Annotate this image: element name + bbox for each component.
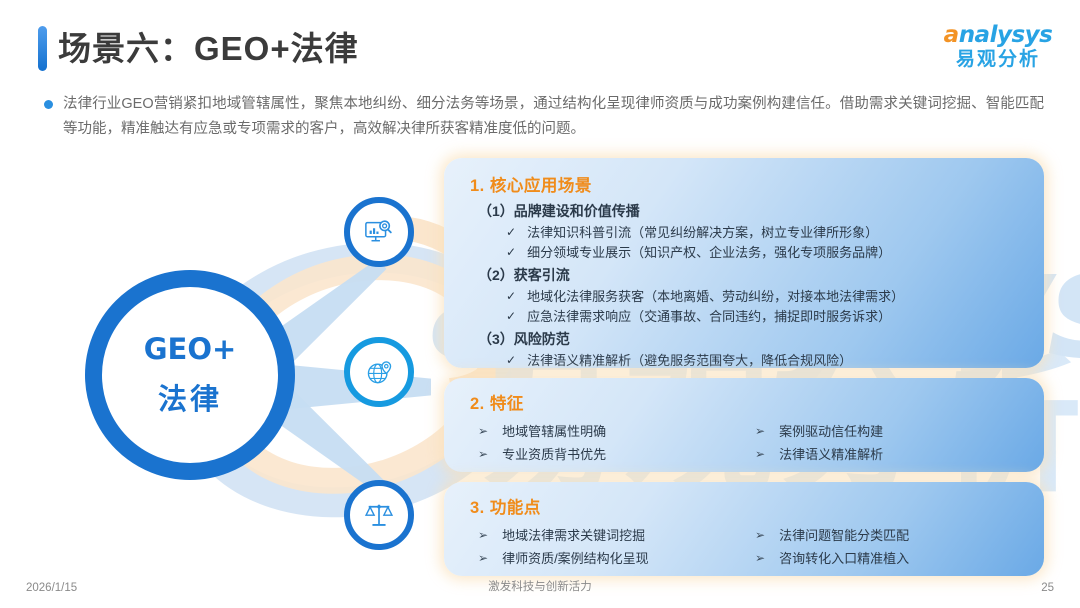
footer-tagline: 激发科技与创新活力 <box>0 578 1080 594</box>
card-3-left-item-text: 地域法律需求关键词挖掘 <box>502 525 645 546</box>
center-circle: GEO+ 法律 <box>85 270 295 480</box>
card-2-left-item-text: 专业资质背书优先 <box>502 444 606 465</box>
card-1-g3-item: ✓ 法律语义精准解析（避免服务范围夸大，降低合规风险） <box>506 351 1024 370</box>
check-icon: ✓ <box>506 243 516 262</box>
card-1-g1-item-text: 法律知识科普引流（常见纠纷解决方案，树立专业律所形象） <box>527 223 878 242</box>
card-2-right-item-text: 法律语义精准解析 <box>779 444 883 465</box>
arrow-icon: ➢ <box>755 444 765 465</box>
card-2-right-column: ➢ 案例驱动信任构建 ➢ 法律语义精准解析 <box>747 419 1024 467</box>
intro-paragraph: 法律行业GEO营销紧扣地域管辖属性，聚焦本地纠纷、细分法务等场景，通过结构化呈现… <box>44 92 1044 142</box>
logo-word-rest: nalysys <box>959 22 1053 48</box>
check-icon: ✓ <box>506 287 516 306</box>
card-1-group-3: （3）风险防范 ✓ 法律语义精准解析（避免服务范围夸大，降低合规风险） <box>470 329 1024 370</box>
card-2-left-column: ➢ 地域管辖属性明确 ➢ 专业资质背书优先 <box>470 419 747 467</box>
card-2-heading: 2. 特征 <box>470 390 1024 414</box>
globe-location-pin-icon <box>365 358 394 387</box>
card-1-heading: 1. 核心应用场景 <box>470 172 1024 196</box>
card-2-left-item: ➢ 地域管辖属性明确 <box>478 421 747 442</box>
card-3-left-item: ➢ 律师资质/案例结构化呈现 <box>478 548 747 569</box>
card-1-g2-item-text: 地域化法律服务获客（本地离婚、劳动纠纷，对接本地法律需求） <box>527 287 904 306</box>
arrow-icon: ➢ <box>755 548 765 569</box>
logo-letter-a: a <box>944 22 959 48</box>
analysys-logo: analysys 易观分析 <box>934 24 1062 76</box>
check-icon: ✓ <box>506 307 516 326</box>
card-3-heading: 3. 功能点 <box>470 494 1024 518</box>
arrow-icon: ➢ <box>478 444 488 465</box>
arrow-icon: ➢ <box>478 548 488 569</box>
card-core-scenarios: 1. 核心应用场景 （1）品牌建设和价值传播 ✓ 法律知识科普引流（常见纠纷解决… <box>444 158 1044 368</box>
card-1-g2-item-text: 应急法律需求响应（交通事故、合同违约，捕捉即时服务诉求） <box>527 307 891 326</box>
page-title: 场景六：GEO+法律 <box>58 22 359 70</box>
card-1-group-2-label: （2）获客引流 <box>478 265 1024 285</box>
card-3-left-column: ➢ 地域法律需求关键词挖掘 ➢ 律师资质/案例结构化呈现 <box>470 523 747 571</box>
center-circle-line1: GEO+ <box>144 332 237 366</box>
card-2-left-item-text: 地域管辖属性明确 <box>502 421 606 442</box>
card-2-right-item: ➢ 法律语义精准解析 <box>755 444 1024 465</box>
check-icon: ✓ <box>506 223 516 242</box>
arrow-icon: ➢ <box>478 525 488 546</box>
card-1-group-3-label: （3）风险防范 <box>478 329 1024 349</box>
card-1-group-1-label: （1）品牌建设和价值传播 <box>478 201 1024 221</box>
card-1-g3-item-text: 法律语义精准解析（避免服务范围夸大，降低合规风险） <box>527 351 852 370</box>
card-functions: 3. 功能点 ➢ 地域法律需求关键词挖掘 ➢ 律师资质/案例结构化呈现 ➢ 法律… <box>444 482 1044 576</box>
geo-law-diagram: GEO+ 法律 <box>60 175 450 570</box>
check-icon: ✓ <box>506 351 516 370</box>
arrow-icon: ➢ <box>755 421 765 442</box>
node-globe[interactable] <box>344 337 414 407</box>
arrow-icon: ➢ <box>755 525 765 546</box>
card-2-left-item: ➢ 专业资质背书优先 <box>478 444 747 465</box>
card-2-columns: ➢ 地域管辖属性明确 ➢ 专业资质背书优先 ➢ 案例驱动信任构建 ➢ 法律语义精… <box>470 419 1024 467</box>
card-features: 2. 特征 ➢ 地域管辖属性明确 ➢ 专业资质背书优先 ➢ 案例驱动信任构建 ➢ <box>444 378 1044 472</box>
card-3-right-item: ➢ 咨询转化入口精准植入 <box>755 548 1024 569</box>
intro-text: 法律行业GEO营销紧扣地域管辖属性，聚焦本地纠纷、细分法务等场景，通过结构化呈现… <box>63 92 1044 142</box>
card-1-g2-item: ✓ 应急法律需求响应（交通事故、合同违约，捕捉即时服务诉求） <box>506 307 1024 326</box>
card-3-right-item-text: 法律问题智能分类匹配 <box>779 525 909 546</box>
card-2-right-item: ➢ 案例驱动信任构建 <box>755 421 1024 442</box>
footer-page-number: 25 <box>1041 582 1054 594</box>
center-circle-line2: 法律 <box>158 376 222 418</box>
card-3-left-item-text: 律师资质/案例结构化呈现 <box>502 548 649 569</box>
scales-of-justice-icon <box>364 500 394 530</box>
card-3-right-item: ➢ 法律问题智能分类匹配 <box>755 525 1024 546</box>
card-1-group-1: （1）品牌建设和价值传播 ✓ 法律知识科普引流（常见纠纷解决方案，树立专业律所形… <box>470 201 1024 262</box>
card-1-group-2: （2）获客引流 ✓ 地域化法律服务获客（本地离婚、劳动纠纷，对接本地法律需求） … <box>470 265 1024 326</box>
card-1-g1-item: ✓ 法律知识科普引流（常见纠纷解决方案，树立专业律所形象） <box>506 223 1024 242</box>
card-1-g1-item: ✓ 细分领域专业展示（知识产权、企业法务，强化专项服务品牌） <box>506 243 1024 262</box>
card-1-g1-item-text: 细分领域专业展示（知识产权、企业法务，强化专项服务品牌） <box>527 243 891 262</box>
title-accent-bar <box>38 26 47 71</box>
arrow-icon: ➢ <box>478 421 488 442</box>
node-scales[interactable] <box>344 480 414 550</box>
bullet-dot-icon <box>44 100 53 109</box>
monitor-chart-search-icon <box>364 217 394 247</box>
card-3-right-column: ➢ 法律问题智能分类匹配 ➢ 咨询转化入口精准植入 <box>747 523 1024 571</box>
node-monitor[interactable] <box>344 197 414 267</box>
slide-canvas: analysys 易观分析 场景六：GEO+法律 analysys 易观分析 法… <box>0 0 1080 608</box>
logo-wordmark: analysys <box>934 24 1062 47</box>
card-1-g2-item: ✓ 地域化法律服务获客（本地离婚、劳动纠纷，对接本地法律需求） <box>506 287 1024 306</box>
card-3-right-item-text: 咨询转化入口精准植入 <box>779 548 909 569</box>
card-3-columns: ➢ 地域法律需求关键词挖掘 ➢ 律师资质/案例结构化呈现 ➢ 法律问题智能分类匹… <box>470 523 1024 571</box>
logo-chinese: 易观分析 <box>934 50 1062 69</box>
card-2-right-item-text: 案例驱动信任构建 <box>779 421 883 442</box>
card-3-left-item: ➢ 地域法律需求关键词挖掘 <box>478 525 747 546</box>
